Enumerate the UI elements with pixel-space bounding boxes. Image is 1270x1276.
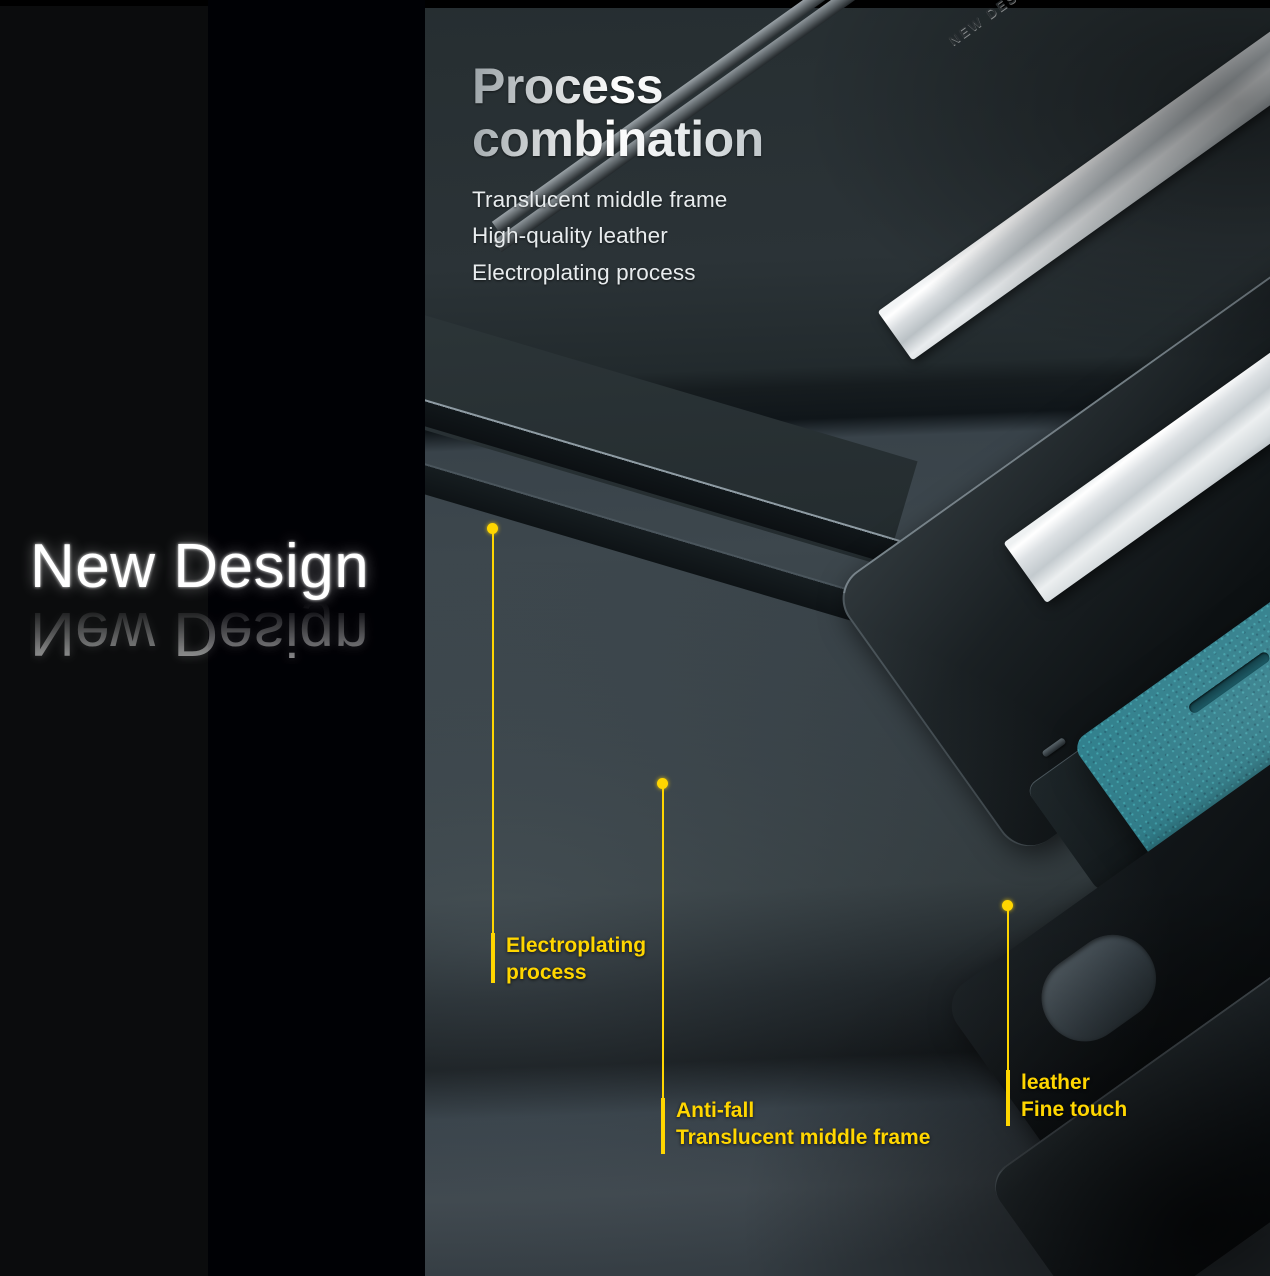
callout-label-line-1: Anti-fall [676,1098,930,1125]
callout-label-anti-fall: Anti-fall Translucent middle frame [676,1098,930,1152]
callout-leader-line-anti-fall [662,788,664,1098]
metal-strip-upper [878,0,1270,360]
callout-label-line-2: process [506,960,646,987]
brand-wordmark-block: New Design New Design [30,536,410,686]
headline-title: Process combination [472,60,902,166]
brand-wordmark: New Design [30,536,410,598]
callout-tick-anti-fall [661,1098,665,1154]
feature-item: Translucent middle frame [472,182,902,218]
callout-tick-electroplating [491,933,495,983]
headline-line-2: combination [472,113,902,166]
callout-tick-leather [1006,1070,1010,1126]
feature-item: High-quality leather [472,218,902,254]
brand-wordmark-reflection: New Design [30,602,410,664]
callout-label-electroplating: Electroplating process [506,933,646,987]
feature-list: Translucent middle frame High-quality le… [472,182,902,291]
callout-label-line-2: Translucent middle frame [676,1125,930,1152]
headline-block: Process combination Translucent middle f… [472,60,902,291]
callout-leader-line-leather [1007,910,1009,1070]
callout-label-line-2: Fine touch [1021,1097,1127,1124]
callout-leader-line-electroplating [492,533,494,933]
feature-item: Electroplating process [472,255,902,291]
callout-label-line-1: Electroplating [506,933,646,960]
headline-line-1: Process [472,58,663,114]
product-banner: New Design New Design [0,0,1270,1276]
callout-label-line-1: leather [1021,1070,1127,1097]
top-sliver [0,0,208,6]
callout-label-leather: leather Fine touch [1021,1070,1127,1124]
